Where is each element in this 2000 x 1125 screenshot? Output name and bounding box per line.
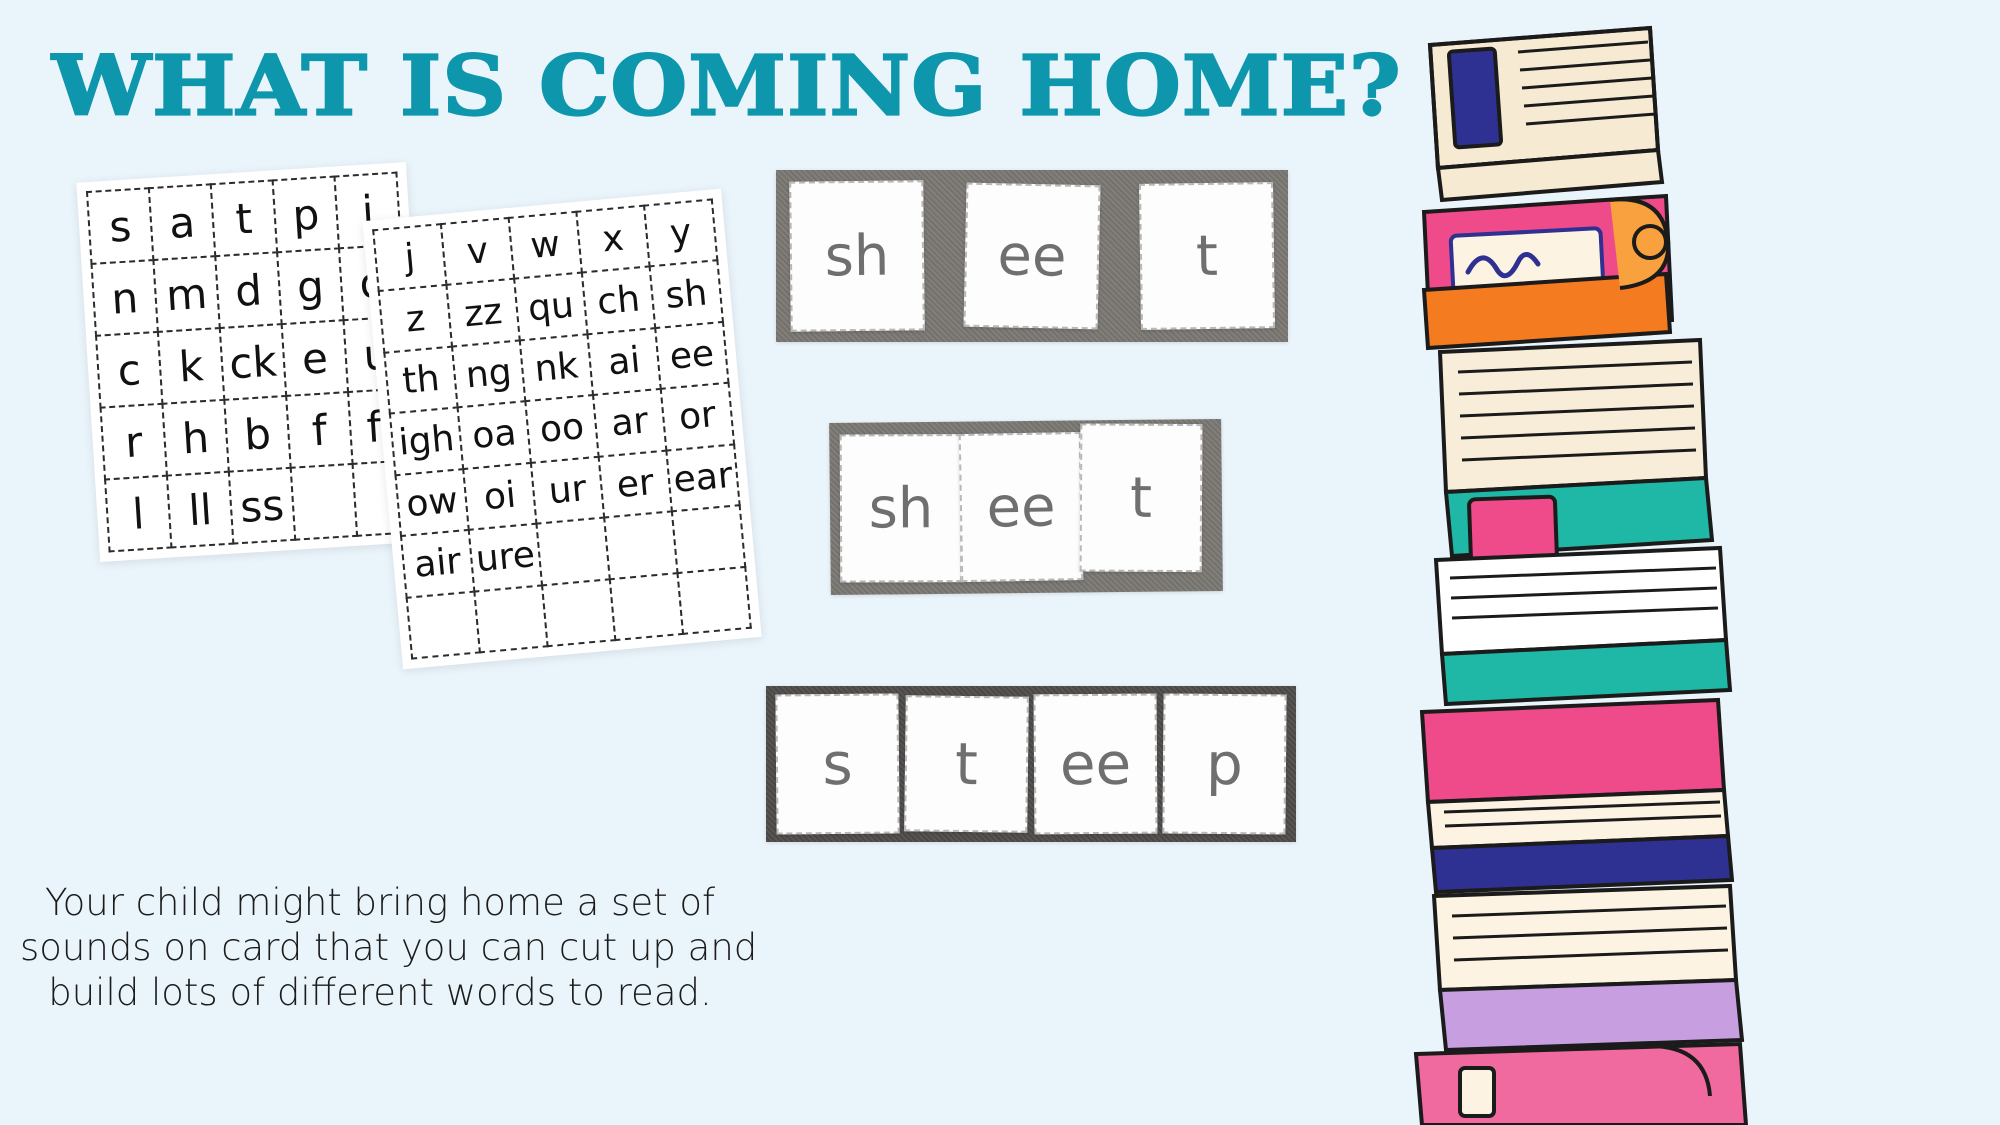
- book-5: [1422, 700, 1732, 892]
- caption-line-1: Your child might bring home a set of: [20, 880, 740, 925]
- sound-cell: oo: [524, 394, 599, 464]
- book-1: [1430, 28, 1662, 200]
- sound-cell: k: [157, 327, 226, 405]
- sound-cell: m: [152, 255, 221, 333]
- sound-cell: th: [383, 345, 458, 415]
- sound-cell: oi: [462, 462, 537, 532]
- sound-cell: d: [214, 251, 283, 329]
- sound-cell: ck: [219, 323, 288, 401]
- sound-tile: p: [1162, 693, 1286, 834]
- sound-tile: ee: [1034, 694, 1158, 835]
- sound-cell: t: [210, 179, 279, 257]
- sound-cell-empty: [603, 510, 678, 580]
- sound-cell: c: [95, 331, 164, 409]
- page-title: WHAT IS COMING HOME?: [52, 38, 1402, 134]
- sound-cell: x: [575, 205, 650, 275]
- sound-tile: t: [1080, 423, 1203, 572]
- book-stack-illustration: [1400, 0, 2000, 1125]
- sound-cell: ch: [581, 266, 656, 336]
- sound-cell-empty: [406, 590, 481, 660]
- sound-cell: g: [276, 247, 345, 325]
- caption-line-3: build lots of different words to read.: [20, 970, 740, 1015]
- sound-cell: sh: [649, 260, 724, 330]
- sound-cell: ear: [665, 443, 740, 513]
- sound-cell: b: [223, 395, 292, 473]
- sound-cell-empty: [535, 517, 610, 587]
- book-7: [1416, 1044, 1746, 1125]
- sound-tile: sh: [840, 434, 963, 582]
- sound-cell: j: [372, 223, 447, 293]
- sound-cell: w: [508, 211, 583, 281]
- sound-cell: ee: [654, 321, 729, 391]
- caption-line-2: sounds on card that you can cut up and: [20, 925, 740, 970]
- digraph-sounds-sheet: j v w x y z zz qu ch sh th ng nk ai ee i…: [362, 189, 761, 670]
- book-3: [1440, 340, 1712, 565]
- word-photo-steep: s t ee p: [766, 686, 1296, 842]
- sound-cell: y: [643, 198, 718, 268]
- sound-tile: ee: [959, 432, 1084, 582]
- sound-tile: t: [904, 695, 1029, 832]
- sound-cell: nk: [519, 333, 594, 403]
- book-6: [1434, 886, 1742, 1050]
- sound-cell: a: [148, 183, 217, 261]
- sound-cell: s: [86, 187, 155, 265]
- sound-cell: ure: [468, 523, 543, 593]
- sound-cell: l: [104, 475, 173, 553]
- sound-cell: zz: [445, 278, 520, 348]
- sound-tile: t: [1139, 182, 1275, 330]
- sound-cell: ar: [592, 388, 667, 458]
- sound-cell: e: [281, 319, 350, 397]
- sound-cell: ll: [166, 471, 235, 549]
- sound-cell-empty: [473, 584, 548, 654]
- sound-cell-empty: [290, 463, 359, 541]
- sound-cell: p: [272, 175, 341, 253]
- sound-cell-empty: [671, 504, 746, 574]
- sound-cell: or: [660, 382, 735, 452]
- sound-cell: qu: [513, 272, 588, 342]
- sound-cell: er: [598, 449, 673, 519]
- sound-cell: ss: [228, 467, 297, 545]
- sound-tile: s: [775, 693, 899, 834]
- sound-cell: v: [440, 217, 515, 287]
- sound-cell: f: [285, 391, 354, 469]
- sound-cell: air: [400, 529, 475, 599]
- sound-cell: ur: [530, 455, 605, 525]
- caption-text: Your child might bring home a set of sou…: [20, 880, 740, 1015]
- sound-cell-empty: [541, 578, 616, 648]
- sound-cell: z: [378, 284, 453, 354]
- sound-cell: n: [90, 259, 159, 337]
- book-2: [1424, 196, 1672, 348]
- sound-cell: ow: [394, 468, 469, 538]
- digraph-sounds-grid: j v w x y z zz qu ch sh th ng nk ai ee i…: [373, 199, 751, 658]
- sound-cell: ai: [586, 327, 661, 397]
- sound-tile: ee: [964, 183, 1101, 330]
- sound-cell: oa: [457, 400, 532, 470]
- sound-cell: igh: [389, 407, 464, 477]
- sound-cell: ng: [451, 339, 526, 409]
- sound-cell: h: [161, 399, 230, 477]
- word-photo-sheet-joined: sh ee t: [829, 419, 1223, 595]
- sound-cell: r: [100, 403, 169, 481]
- book-4: [1436, 548, 1730, 704]
- sound-tile: sh: [789, 180, 925, 331]
- sound-cell-empty: [676, 565, 751, 635]
- word-photo-sheet-spaced: sh ee t: [776, 170, 1288, 342]
- sound-cell-empty: [609, 572, 684, 642]
- book-stack-svg: [1400, 0, 2000, 1125]
